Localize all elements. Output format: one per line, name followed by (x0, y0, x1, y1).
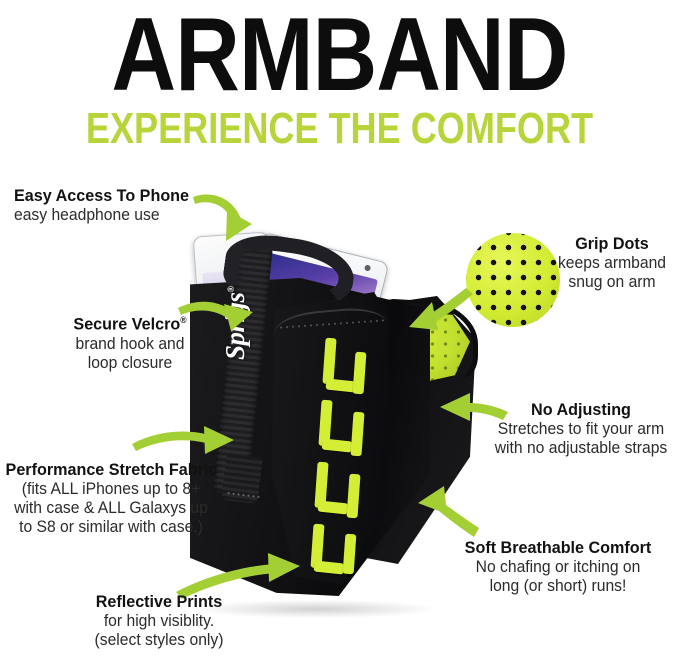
page-subtitle: EXPERIENCE THE COMFORT (61, 104, 618, 154)
callout-heading: No Adjusting (488, 400, 674, 420)
callout-easy-access: Easy Access To Phone easy headphone use (14, 186, 234, 225)
callout-heading: Easy Access To Phone (14, 186, 223, 206)
header: ARMBAND EXPERIENCE THE COMFORT (0, 0, 679, 160)
callout-no-adjusting: No Adjusting Stretches to fit your arm w… (483, 400, 679, 458)
brand-logo-sprigs: Sprigs® (220, 286, 251, 360)
callout-line: with no adjustable straps (488, 439, 674, 458)
brand-logo-text: Sprigs (220, 292, 250, 360)
callout-secure-velcro: Secure Velcro® brand hook and loop closu… (42, 310, 218, 373)
callout-line: brand hook and (46, 335, 213, 354)
callout-heading: Grip Dots (551, 234, 673, 254)
callout-heading-text: Secure Velcro (73, 315, 180, 334)
brand-logo-trademark: ® (226, 286, 236, 292)
callout-line: to S8 or similar with case.) (6, 518, 217, 537)
callout-line: snug on arm (551, 273, 673, 292)
callout-line: Stretches to fit your arm (488, 420, 674, 439)
grip-dots-detail-inset (466, 233, 560, 327)
callout-line: No chafing or itching on (448, 558, 668, 577)
callout-heading: Soft Breathable Comfort (448, 538, 668, 558)
callout-heading: Reflective Prints (73, 592, 246, 612)
callout-line: keeps armband (551, 254, 673, 273)
page-title: ARMBAND (48, 0, 632, 114)
infographic-page: ARMBAND EXPERIENCE THE COMFORT (0, 0, 679, 664)
callout-line: (fits ALL iPhones up to 8+ (6, 480, 217, 499)
callout-heading: Secure Velcro® (46, 310, 213, 335)
callout-heading: Performance Stretch Fabric (6, 460, 217, 480)
callout-line: easy headphone use (14, 206, 223, 225)
grip-dots-pattern (466, 233, 560, 327)
callout-line: for high visiblity. (73, 612, 246, 631)
callout-line: with case & ALL Galaxys up (6, 499, 217, 518)
callout-line: loop closure (46, 354, 213, 373)
callout-soft-breathable-comfort: Soft Breathable Comfort No chafing or it… (442, 538, 674, 596)
registered-trademark-icon: ® (180, 315, 186, 325)
phone-camera-icon (364, 264, 371, 271)
callout-line: (select styles only) (73, 631, 246, 650)
callout-reflective-prints: Reflective Prints for high visiblity. (s… (68, 592, 250, 650)
callout-grip-dots: Grip Dots keeps armband snug on arm (548, 234, 676, 292)
callout-line: long (or short) runs! (448, 577, 668, 596)
callout-performance-stretch-fabric: Performance Stretch Fabric (fits ALL iPh… (0, 460, 222, 537)
